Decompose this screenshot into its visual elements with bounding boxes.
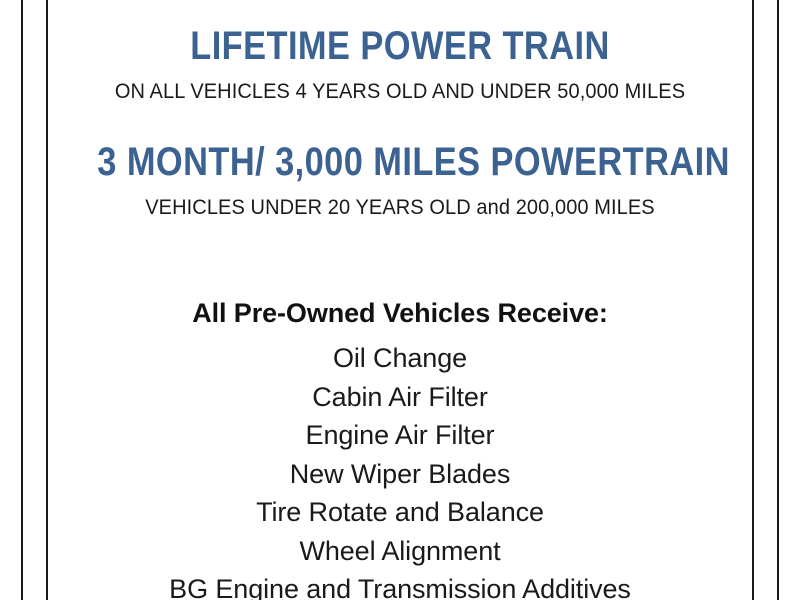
list-item: New Wiper Blades <box>48 455 752 494</box>
right-inner-rule <box>752 0 754 600</box>
lifetime-powertrain-heading: LIFETIME POWER TRAIN <box>97 26 702 66</box>
list-item: Wheel Alignment <box>48 532 752 571</box>
services-section-title: All Pre-Owned Vehicles Receive: <box>48 300 752 327</box>
flyer-page: LIFETIME POWER TRAIN ON ALL VEHICLES 4 Y… <box>0 0 800 600</box>
list-item: BG Engine and Transmission Additives <box>48 570 752 600</box>
right-outer-rule <box>777 0 779 600</box>
three-month-powertrain-heading: 3 MONTH/ 3,000 MILES POWERTRAIN <box>97 142 702 182</box>
list-item: Cabin Air Filter <box>48 378 752 417</box>
lifetime-powertrain-subtitle: ON ALL VEHICLES 4 YEARS OLD AND UNDER 50… <box>73 81 728 103</box>
three-month-powertrain-subtitle: VEHICLES UNDER 20 YEARS OLD and 200,000 … <box>73 197 728 219</box>
content-column: LIFETIME POWER TRAIN ON ALL VEHICLES 4 Y… <box>48 0 752 600</box>
warranty-offer-three-month: 3 MONTH/ 3,000 MILES POWERTRAIN VEHICLES… <box>48 142 752 219</box>
warranty-offer-lifetime: LIFETIME POWER TRAIN ON ALL VEHICLES 4 Y… <box>48 26 752 103</box>
services-list: Oil Change Cabin Air Filter Engine Air F… <box>48 339 752 600</box>
left-outer-rule <box>21 0 23 600</box>
list-item: Oil Change <box>48 339 752 378</box>
list-item: Engine Air Filter <box>48 416 752 455</box>
list-item: Tire Rotate and Balance <box>48 493 752 532</box>
services-section: All Pre-Owned Vehicles Receive: Oil Chan… <box>48 300 752 600</box>
